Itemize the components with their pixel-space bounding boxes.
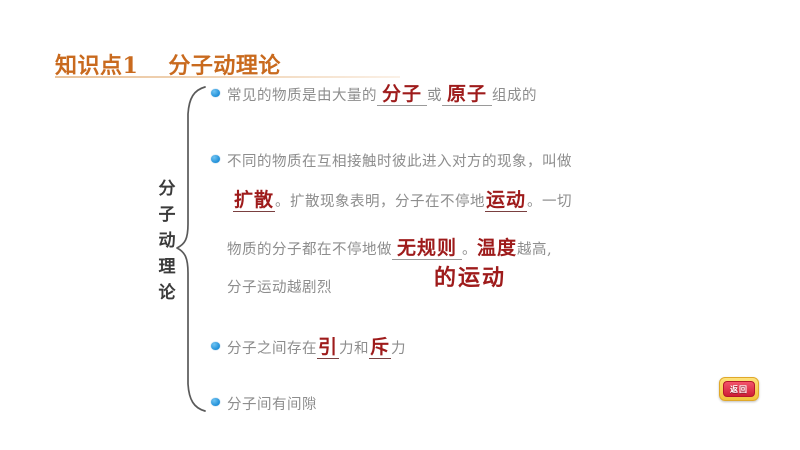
answer-blank-wuguize: 无规则 — [392, 239, 462, 260]
bullet-marker-3 — [211, 342, 220, 350]
bullet-marker-4 — [211, 398, 220, 406]
bullet-line-3: 分子之间存在引力和斥力 — [227, 337, 406, 359]
text-segment: 。一切 — [527, 194, 572, 210]
text-segment: 分子间有间隙 — [227, 397, 317, 413]
text-segment: 不同的物质在互相接触时彼此进入对方的现象，叫做 — [227, 154, 572, 170]
answer-blank-yuanzi: 原子 — [442, 85, 492, 106]
title-underline — [55, 76, 400, 78]
bullet-line-2b: 扩散。扩散现象表明，分子在不停地运动。一切 — [233, 190, 572, 212]
text-segment: 。 — [462, 242, 477, 258]
bullet-marker-2 — [211, 155, 220, 163]
return-button-label: 返回 — [723, 381, 755, 397]
text-segment: 。扩散现象表明，分子在不停地 — [275, 194, 485, 210]
bullet-line-2c: 物质的分子都在不停地做无规则。温度越高, — [227, 233, 552, 260]
answer-wendu: 温度 — [477, 237, 517, 259]
text-segment: 或 — [427, 88, 442, 104]
answer-yin: 引 — [317, 338, 339, 359]
text-segment: 越高, — [517, 242, 552, 258]
answer-yundong: 运动 — [485, 191, 527, 212]
return-button[interactable]: 返回 — [719, 377, 759, 401]
text-segment: 分子运动越剧烈 — [227, 280, 332, 296]
bullet-marker-1 — [211, 89, 220, 97]
text-segment: 力和 — [339, 341, 369, 357]
text-segment: 常见的物质是由大量的 — [227, 88, 377, 104]
slide-canvas: 知识点1 分子动理论 分 子 动 理 论 常见的物质是由大量的分子或原子组成的 … — [0, 0, 800, 450]
answer-blank-fenzi: 分子 — [377, 85, 427, 106]
bullet-line-1: 常见的物质是由大量的分子或原子组成的 — [227, 84, 537, 106]
bullet-line-2d: 分子运动越剧烈 — [227, 276, 332, 297]
bullet-line-2a: 不同的物质在互相接触时彼此进入对方的现象，叫做 — [227, 150, 572, 171]
text-segment: 力 — [391, 341, 406, 357]
answer-chi: 斥 — [369, 338, 391, 359]
text-segment: 组成的 — [492, 88, 537, 104]
text-segment: 分子之间存在 — [227, 341, 317, 357]
answer-deyundong: 的运动 — [434, 260, 506, 292]
curly-brace — [174, 84, 214, 414]
answer-kuosan: 扩散 — [233, 191, 275, 212]
bullet-line-4: 分子间有间隙 — [227, 393, 317, 414]
text-segment: 物质的分子都在不停地做 — [227, 242, 392, 258]
